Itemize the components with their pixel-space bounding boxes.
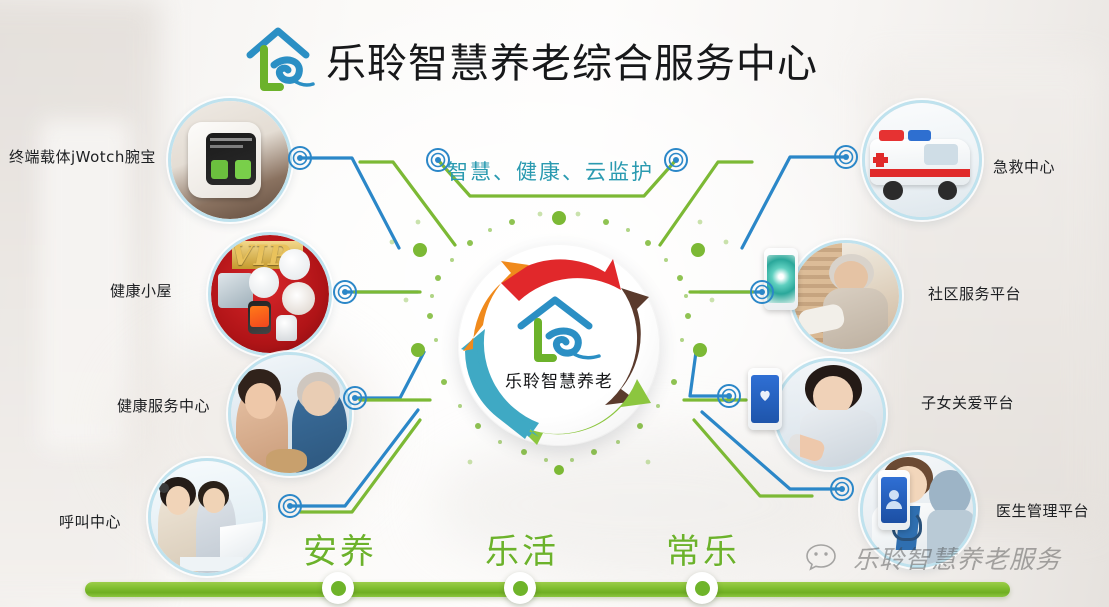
elderly-man-phone-photo [793, 243, 899, 349]
label-doctor-platform: 医生管理平台 [996, 500, 1089, 521]
node-tagline-right[interactable] [663, 147, 689, 173]
link-terminal-watch [300, 158, 399, 248]
wechat-watermark: 乐聆智慧养老服务 [806, 540, 1061, 576]
node-children-care-platform[interactable] [716, 383, 742, 409]
green-rail-upper-right [660, 162, 752, 245]
rail-word-2: 常乐 [666, 524, 740, 573]
tagline-text: 智慧、健康、云监护 [447, 156, 654, 186]
rail-marker-1[interactable] [504, 572, 536, 604]
rail-marker-2[interactable] [686, 572, 718, 604]
caregiver-elderly-photo [231, 355, 349, 473]
progress-rail [85, 582, 1010, 597]
node-community-platform[interactable] [749, 279, 775, 305]
link-emergency-center [742, 157, 846, 248]
center-hub: 乐聆智慧养老 [444, 236, 674, 454]
vip-health-kiosk-photo: VIP [211, 235, 329, 353]
label-call-center: 呼叫中心 [59, 511, 121, 532]
label-children-care-platform: 子女关爱平台 [921, 392, 1014, 413]
node-doctor-platform[interactable] [829, 476, 855, 502]
label-emergency-center: 急救中心 [993, 156, 1055, 177]
smart-watch-photo [171, 101, 289, 219]
phone-mock-children [748, 368, 782, 430]
photo-health-service-center[interactable] [228, 352, 352, 476]
label-community-platform: 社区服务平台 [928, 283, 1021, 304]
phone-mock-doctor [878, 470, 910, 530]
wechat-watermark-text: 乐聆智慧养老服务 [853, 540, 1061, 576]
label-health-service-center: 健康服务中心 [117, 395, 210, 416]
photo-community-platform[interactable] [790, 240, 902, 352]
photo-emergency-center[interactable] [862, 100, 982, 220]
hub-label: 乐聆智慧养老 [444, 367, 674, 392]
node-call-center[interactable] [277, 493, 303, 519]
node-health-service-center[interactable] [342, 385, 368, 411]
hub-logo-icon [511, 292, 607, 370]
ambulance-photo [865, 103, 979, 217]
rail-marker-dot [513, 581, 528, 596]
call-center-operators-photo [151, 461, 263, 573]
woman-phone-photo [777, 361, 883, 467]
rail-marker-dot [331, 581, 346, 596]
rail-word-1: 乐活 [485, 524, 559, 573]
label-health-hut: 健康小屋 [110, 280, 172, 301]
rail-marker-0[interactable] [322, 572, 354, 604]
rail-marker-dot [695, 581, 710, 596]
node-emergency-center[interactable] [833, 144, 859, 170]
label-terminal-watch: 终端载体jWotch腕宝 [9, 146, 156, 167]
infographic-canvas: 乐聆智慧养老综合服务中心 .lb { fill:none; stroke:#2b… [0, 0, 1109, 607]
photo-call-center[interactable] [148, 458, 266, 576]
node-terminal-watch[interactable] [287, 145, 313, 171]
photo-health-hut[interactable]: VIP [208, 232, 332, 356]
photo-children-care-platform[interactable] [774, 358, 886, 470]
photo-terminal-watch[interactable] [168, 98, 292, 222]
rail-word-0: 安养 [303, 524, 377, 573]
node-health-hut[interactable] [332, 279, 358, 305]
wechat-icon [806, 542, 846, 574]
